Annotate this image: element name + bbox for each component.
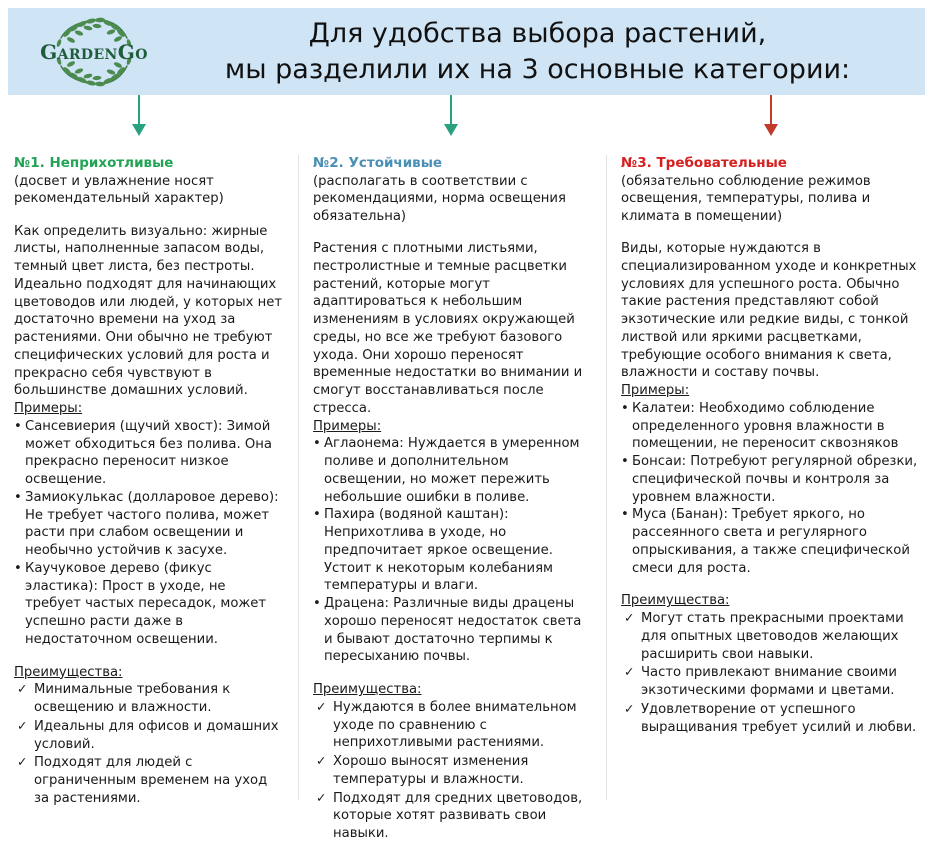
arrow-down-column-3 xyxy=(762,95,780,140)
advantages-list-1: Минимальные требования к освещению и вла… xyxy=(14,681,284,807)
list-item: Удовлетворение от успешного выращивания … xyxy=(621,701,919,737)
category-heading-1: №1. Неприхотливые xyxy=(14,155,284,172)
list-item: Сансевиерия (щучий хвост): Зимой может о… xyxy=(14,418,284,489)
category-subtitle-1: (досвет и увлажнение носят рекомендатель… xyxy=(14,173,284,208)
category-columns: №1. Неприхотливые (досвет и увлажнение н… xyxy=(0,155,933,800)
list-item: Хорошо выносят изменения температуры и в… xyxy=(313,753,592,789)
list-item: Калатеи: Необходимо соблюдение определен… xyxy=(621,400,919,453)
examples-label-2: Примеры: xyxy=(313,418,592,436)
list-item: Муса (Банан): Требует яркого, но рассеян… xyxy=(621,506,919,577)
examples-list-3: Калатеи: Необходимо соблюдение определен… xyxy=(621,400,919,578)
list-item: Каучуковое дерево (фикус эластика): Прос… xyxy=(14,560,284,649)
category-body-1: Как определить визуально: жирные листы, … xyxy=(14,223,284,401)
arrow-down-column-1 xyxy=(130,95,148,140)
category-subtitle-3: (обязательно соблюдение режимов освещени… xyxy=(621,173,919,225)
list-item: Бонсаи: Потребуют регулярной обрезки, сп… xyxy=(621,453,919,506)
category-body-3: Виды, которые нуждаются в специализирова… xyxy=(621,240,919,382)
arrow-down-column-2 xyxy=(442,95,460,140)
arrow-row xyxy=(0,95,933,145)
examples-label-3: Примеры: xyxy=(621,382,919,400)
advantages-label-1: Преимущества: xyxy=(14,664,284,682)
category-subtitle-2: (располагать в соответствии с рекомендац… xyxy=(313,173,592,225)
advantages-list-3: Могут стать прекрасными проектами для оп… xyxy=(621,610,919,736)
page-header: GardenGo Для удобства выбора растений, м… xyxy=(8,8,925,95)
list-item: Минимальные требования к освещению и вла… xyxy=(14,681,284,717)
examples-list-1: Сансевиерия (щучий хвост): Зимой может о… xyxy=(14,418,284,649)
list-item: Могут стать прекрасными проектами для оп… xyxy=(621,610,919,663)
logo-text: GardenGo xyxy=(40,40,148,64)
list-item: Драцена: Различные виды драцены хорошо п… xyxy=(313,595,592,666)
page-title-line-1: Для удобства выбора растений, xyxy=(309,16,766,52)
examples-label-1: Примеры: xyxy=(14,400,284,418)
category-column-1: №1. Неприхотливые (досвет и увлажнение н… xyxy=(0,155,298,800)
advantages-list-2: Нуждаются в более внимательном уходе по … xyxy=(313,699,592,843)
page-title: Для удобства выбора растений, мы раздели… xyxy=(180,8,925,95)
list-item: Нуждаются в более внимательном уходе по … xyxy=(313,699,592,752)
category-body-2: Растения с плотными листьями, пестролист… xyxy=(313,240,592,418)
list-item: Замиокулькас (долларовое дерево): Не тре… xyxy=(14,489,284,560)
advantages-label-2: Преимущества: xyxy=(313,681,592,699)
list-item: Идеальны для офисов и домашних условий. xyxy=(14,718,284,754)
list-item: Пахира (водяной каштан): Неприхотлива в … xyxy=(313,506,592,595)
logo: GardenGo xyxy=(8,8,180,95)
examples-list-2: Аглаонема: Нуждается в умеренном поливе … xyxy=(313,435,592,666)
category-column-3: №3. Требовательные (обязательно соблюден… xyxy=(606,155,933,800)
list-item: Часто привлекают внимание своими экзотич… xyxy=(621,664,919,700)
list-item: Аглаонема: Нуждается в умеренном поливе … xyxy=(313,435,592,506)
category-heading-3: №3. Требовательные xyxy=(621,155,919,172)
category-column-2: №2. Устойчивые (располагать в соответств… xyxy=(298,155,606,800)
advantages-label-3: Преимущества: xyxy=(621,592,919,610)
category-heading-2: №2. Устойчивые xyxy=(313,155,592,172)
page-title-line-2: мы разделили их на 3 основные категории: xyxy=(225,52,850,88)
list-item: Подходят для средних цветоводов, которые… xyxy=(313,790,592,843)
